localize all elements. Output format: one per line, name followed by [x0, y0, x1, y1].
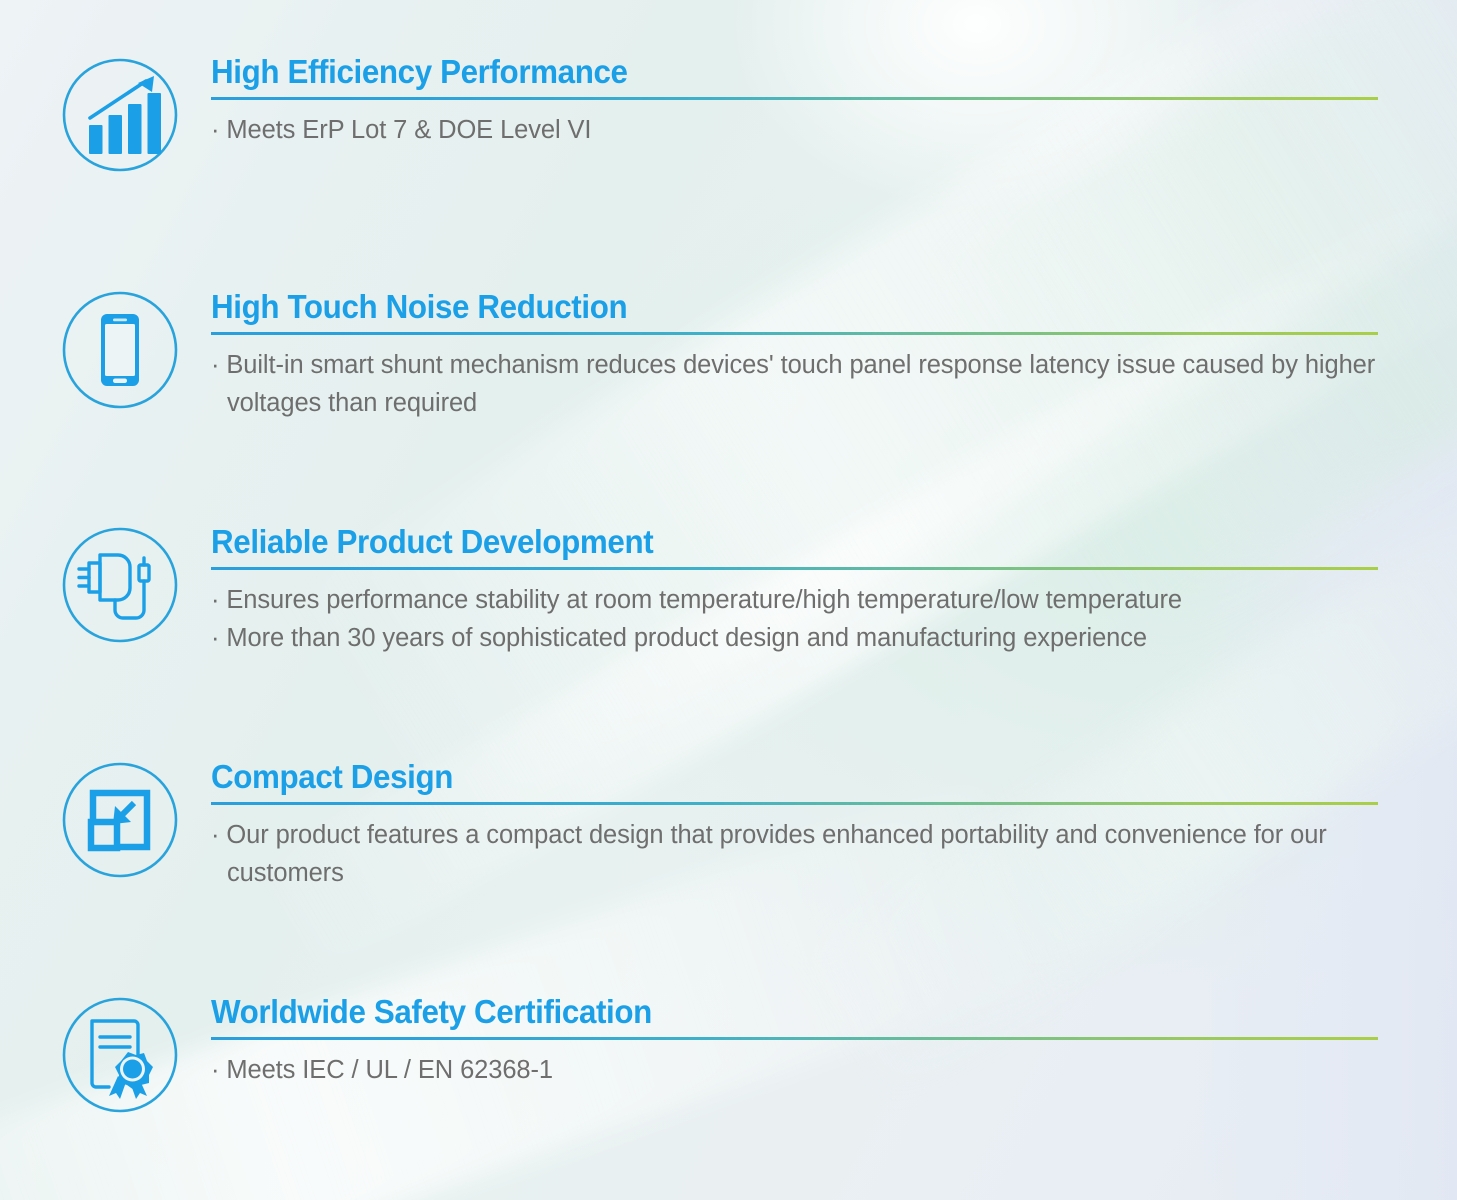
bullet-item: · Meets IEC / UL / EN 62368-1	[211, 1052, 1386, 1090]
bullet-item: · Ensures performance stability at room …	[211, 582, 1386, 620]
feature-bullets: · Meets IEC / UL / EN 62368-1	[211, 1052, 1386, 1090]
feature-divider	[211, 567, 1378, 570]
feature-text-block: High Touch Noise Reduction · Built-in sm…	[211, 290, 1386, 422]
bullet-item: · Our product features a compact design …	[211, 817, 1386, 892]
infographic-canvas: High Efficiency Performance · Meets ErP …	[0, 0, 1457, 1200]
feature-divider	[211, 332, 1378, 335]
feature-title: High Touch Noise Reduction	[211, 290, 1327, 325]
feature-title: High Efficiency Performance	[211, 55, 1327, 90]
feature-bullets: · Our product features a compact design …	[211, 817, 1386, 892]
feature-text-block: Compact Design · Our product features a …	[211, 760, 1386, 892]
feature-title: Worldwide Safety Certification	[211, 995, 1327, 1030]
feature-text-block: Reliable Product Development · Ensures p…	[211, 525, 1386, 657]
feature-text-block: Worldwide Safety Certification · Meets I…	[211, 995, 1386, 1090]
smartphone-icon	[60, 290, 180, 410]
feature-divider	[211, 1037, 1378, 1040]
bullet-item: · More than 30 years of sophisticated pr…	[211, 620, 1386, 658]
feature-title: Compact Design	[211, 760, 1327, 795]
feature-bullets: · Built-in smart shunt mechanism reduces…	[211, 347, 1386, 422]
feature-divider	[211, 97, 1378, 100]
feature-list: High Efficiency Performance · Meets ErP …	[0, 0, 1457, 1200]
bullet-item: · Built-in smart shunt mechanism reduces…	[211, 347, 1386, 422]
bullet-item: · Meets ErP Lot 7 & DOE Level VI	[211, 112, 1386, 150]
feature-bullets: · Meets ErP Lot 7 & DOE Level VI	[211, 112, 1386, 150]
feature-bullets: · Ensures performance stability at room …	[211, 582, 1386, 657]
compact-resize-icon	[60, 760, 180, 880]
feature-title: Reliable Product Development	[211, 525, 1327, 560]
feature-text-block: High Efficiency Performance · Meets ErP …	[211, 55, 1386, 150]
bar-chart-growth-icon	[60, 55, 180, 175]
power-adapter-icon	[60, 525, 180, 645]
feature-divider	[211, 802, 1378, 805]
certificate-award-icon	[60, 995, 180, 1115]
